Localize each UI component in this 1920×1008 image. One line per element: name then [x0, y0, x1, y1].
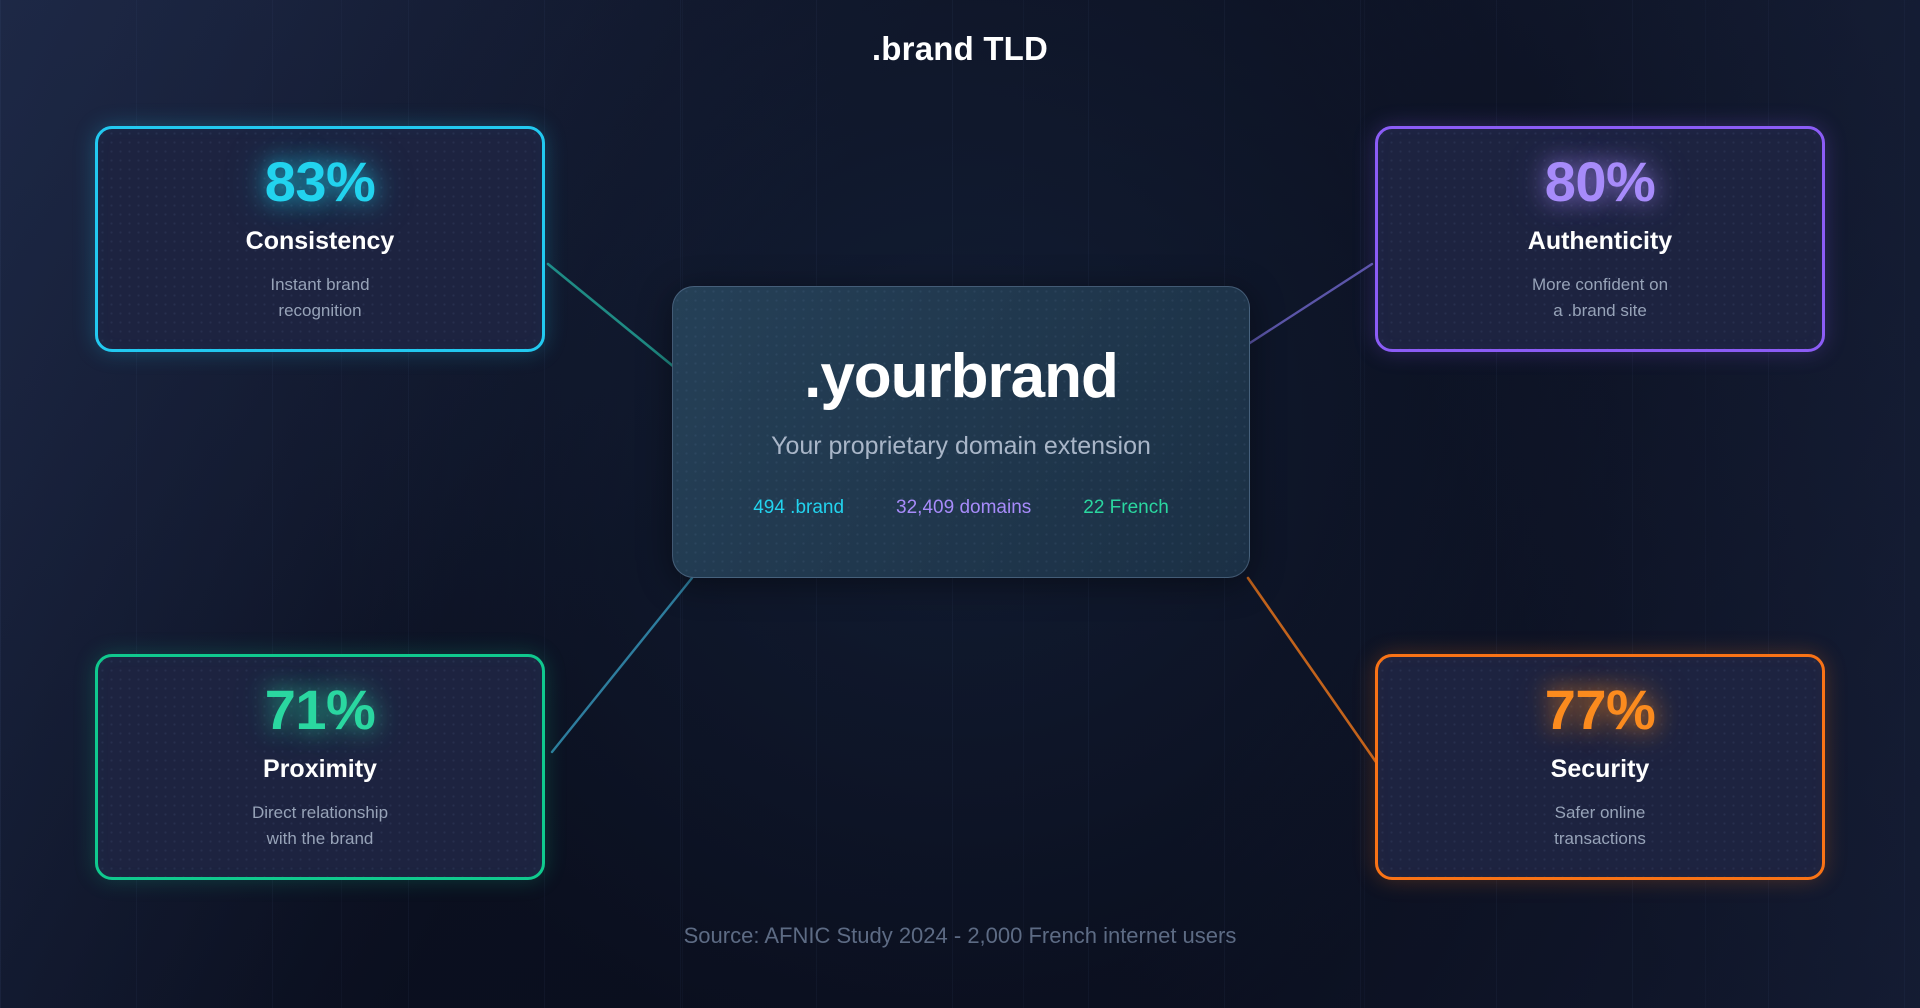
connector-proximity-to-center — [552, 578, 692, 752]
brand-subtitle: Your proprietary domain extension — [771, 434, 1151, 459]
stat-description: Direct relationship with the brand — [252, 800, 388, 853]
brand-stat-french-count: 22 French — [1083, 497, 1169, 519]
stat-description-line2: recognition — [278, 301, 361, 320]
stat-percent: 71% — [265, 682, 376, 738]
stat-card-consistency[interactable]: 83% Consistency Instant brand recognitio… — [95, 126, 545, 352]
source-note: Source: AFNIC Study 2024 - 2,000 French … — [0, 923, 1920, 949]
connector-consistency-to-center — [548, 264, 690, 380]
connector-security-to-center — [1248, 578, 1376, 762]
page-title: .brand TLD — [0, 30, 1920, 68]
stat-card-authenticity[interactable]: 80% Authenticity More confident on a .br… — [1375, 126, 1825, 352]
stat-description-line1: Direct relationship — [252, 803, 388, 822]
stat-title: Authenticity — [1528, 229, 1672, 254]
stat-percent: 80% — [1545, 154, 1656, 210]
stat-card-security[interactable]: 77% Security Safer online transactions — [1375, 654, 1825, 880]
stat-description: Instant brand recognition — [270, 272, 369, 325]
brand-stat-brand-count: 494 .brand — [753, 497, 844, 519]
stat-description-line2: transactions — [1554, 829, 1646, 848]
stat-description-line2: with the brand — [267, 829, 374, 848]
stat-title: Consistency — [246, 229, 395, 254]
stat-percent: 83% — [265, 154, 376, 210]
stat-title: Security — [1551, 757, 1650, 782]
stat-title: Proximity — [263, 757, 377, 782]
stat-description-line1: Safer online — [1555, 803, 1646, 822]
stat-description-line1: Instant brand — [270, 275, 369, 294]
stat-card-proximity[interactable]: 71% Proximity Direct relationship with t… — [95, 654, 545, 880]
brand-stats-row: 494 .brand 32,409 domains 22 French — [753, 497, 1169, 519]
infographic-canvas: .brand TLD 83% Consistency Instant brand… — [0, 0, 1920, 1008]
brand-stat-domain-count: 32,409 domains — [896, 497, 1031, 519]
stat-description: More confident on a .brand site — [1532, 272, 1668, 325]
stat-description: Safer online transactions — [1554, 800, 1646, 853]
brand-name: .yourbrand — [804, 346, 1118, 408]
stat-description-line1: More confident on — [1532, 275, 1668, 294]
stat-description-line2: a .brand site — [1553, 301, 1647, 320]
center-brand-card[interactable]: .yourbrand Your proprietary domain exten… — [672, 286, 1250, 578]
connector-authenticity-to-center — [1236, 264, 1372, 352]
stat-percent: 77% — [1545, 682, 1656, 738]
